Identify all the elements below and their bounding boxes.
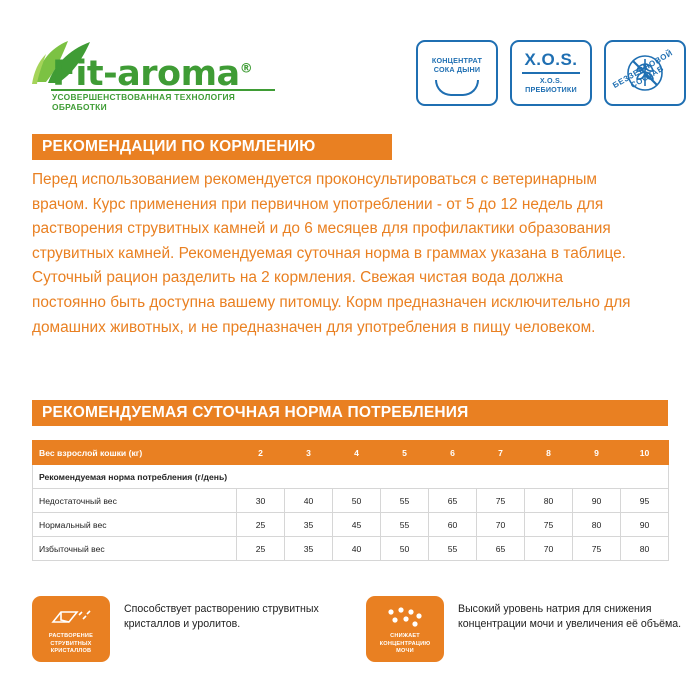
cell-normalweight-9: 80: [573, 513, 621, 537]
table-header-row: Вес взрослой кошки (кг) 2 3 4 5 6 7 8 9 …: [33, 441, 669, 465]
feeding-section-title: РЕКОМЕНДАЦИИ ПО КОРМЛЕНИЮ: [32, 134, 392, 160]
daily-norm-section-title: РЕКОМЕНДУЕМАЯ СУТОЧНАЯ НОРМА ПОТРЕБЛЕНИЯ: [32, 400, 668, 426]
row-label-underweight: Недостаточный вес: [33, 489, 237, 513]
cell-underweight-3: 40: [285, 489, 333, 513]
cell-overweight-4: 40: [333, 537, 381, 561]
logo-divider: [51, 89, 275, 91]
table-header-weight-6: 6: [429, 441, 477, 465]
feature-2-badge-line2: КОНЦЕНТРАЦИЮ: [366, 641, 444, 649]
cell-normalweight-6: 60: [429, 513, 477, 537]
cell-underweight-5: 55: [381, 489, 429, 513]
badge-xos-divider: [522, 72, 580, 74]
feature-1-badge-line3: КРИСТАЛЛОВ: [32, 648, 110, 656]
cell-normalweight-4: 45: [333, 513, 381, 537]
cell-normalweight-7: 70: [477, 513, 525, 537]
crystal-dissolving-icon: [47, 606, 95, 632]
table-header-weight-4: 4: [333, 441, 381, 465]
table-header-weight-7: 7: [477, 441, 525, 465]
table-header-weight-10: 10: [621, 441, 669, 465]
cell-normalweight-2: 25: [237, 513, 285, 537]
droplets-icon: [382, 606, 428, 630]
badge-xos-text: X.O.S. ПРЕБИОТИКИ: [512, 76, 590, 94]
cell-overweight-3: 35: [285, 537, 333, 561]
table-subheader-label: Рекомендуемая норма потребления (г/день): [33, 465, 669, 489]
feeding-section-text: Перед использованием рекомендуется проко…: [32, 168, 636, 340]
badge-xos-prebiotics: X.O.S. X.O.S. ПРЕБИОТИКИ: [510, 40, 592, 106]
cell-underweight-6: 65: [429, 489, 477, 513]
cell-normalweight-3: 35: [285, 513, 333, 537]
feature-2-badge-line1: СНИЖАЕТ: [366, 633, 444, 641]
daily-norm-table: Вес взрослой кошки (кг) 2 3 4 5 6 7 8 9 …: [32, 440, 669, 561]
table-row: Недостаточный вес 30 40 50 55 65 75 80 9…: [33, 489, 669, 513]
table-header-weight-label: Вес взрослой кошки (кг): [33, 441, 237, 465]
badge-xos-title: X.O.S.: [512, 50, 590, 70]
cell-underweight-9: 90: [573, 489, 621, 513]
feature-1-badge-line2: СТРУВИТНЫХ: [32, 641, 110, 649]
badge-grain-free: БЕЗЗЕРНОВОЙ СОСТАВ: [604, 40, 686, 106]
cell-normalweight-5: 55: [381, 513, 429, 537]
badge-xos-line1: X.O.S.: [512, 76, 590, 85]
badge-xos-line2: ПРЕБИОТИКИ: [512, 85, 590, 94]
feature-1-badge-line1: РАСТВОРЕНИЕ: [32, 633, 110, 641]
table-header-weight-2: 2: [237, 441, 285, 465]
melon-slice-icon: [435, 80, 479, 96]
cell-overweight-6: 55: [429, 537, 477, 561]
feature-2-badge-text: СНИЖАЕТ КОНЦЕНТРАЦИЮ МОЧИ: [366, 633, 444, 656]
badge-row: КОНЦЕНТРАТ СОКА ДЫНИ X.O.S. X.O.S. ПРЕБИ…: [416, 40, 686, 106]
table-header-weight-9: 9: [573, 441, 621, 465]
cell-overweight-5: 50: [381, 537, 429, 561]
cell-normalweight-8: 75: [525, 513, 573, 537]
brand-name: Fit-aroma®: [52, 54, 252, 94]
table-header-weight-5: 5: [381, 441, 429, 465]
table-row: Избыточный вес 25 35 40 50 55 65 70 75 8…: [33, 537, 669, 561]
feature-2-badge-line3: МОЧИ: [366, 648, 444, 656]
badge-melon-line2: СОКА ДЫНИ: [418, 65, 496, 74]
row-label-overweight: Избыточный вес: [33, 537, 237, 561]
page-header: Fit-aroma® УСОВЕРШЕНСТВОВАННАЯ ТЕХНОЛОГИ…: [0, 26, 700, 106]
registered-mark: ®: [240, 61, 253, 76]
badge-melon-text: КОНЦЕНТРАТ СОКА ДЫНИ: [418, 56, 496, 74]
brand-logo: Fit-aroma® УСОВЕРШЕНСТВОВАННАЯ ТЕХНОЛОГИ…: [22, 36, 292, 110]
cell-underweight-2: 30: [237, 489, 285, 513]
cell-underweight-8: 80: [525, 489, 573, 513]
feature-2-description: Высокий уровень натрия для снижения конц…: [458, 602, 700, 632]
row-label-normalweight: Нормальный вес: [33, 513, 237, 537]
cell-underweight-4: 50: [333, 489, 381, 513]
feature-1-badge-text: РАСТВОРЕНИЕ СТРУВИТНЫХ КРИСТАЛЛОВ: [32, 633, 110, 656]
cell-overweight-8: 70: [525, 537, 573, 561]
cell-overweight-7: 65: [477, 537, 525, 561]
brand-tagline: УСОВЕРШЕНСТВОВАННАЯ ТЕХНОЛОГИЯ ОБРАБОТКИ: [52, 92, 292, 112]
badge-melon-juice-concentrate: КОНЦЕНТРАТ СОКА ДЫНИ: [416, 40, 498, 106]
table-header-weight-8: 8: [525, 441, 573, 465]
cell-overweight-10: 80: [621, 537, 669, 561]
feature-1-description: Способствует растворению струвитных крис…: [124, 602, 374, 632]
feature-1-badge: РАСТВОРЕНИЕ СТРУВИТНЫХ КРИСТАЛЛОВ: [32, 596, 110, 662]
cell-overweight-9: 75: [573, 537, 621, 561]
feature-2-badge: СНИЖАЕТ КОНЦЕНТРАЦИЮ МОЧИ: [366, 596, 444, 662]
table-row: Нормальный вес 25 35 45 55 60 70 75 80 9…: [33, 513, 669, 537]
cell-underweight-10: 95: [621, 489, 669, 513]
table-subheader-row: Рекомендуемая норма потребления (г/день): [33, 465, 669, 489]
cell-overweight-2: 25: [237, 537, 285, 561]
table-header-weight-3: 3: [285, 441, 333, 465]
badge-melon-line1: КОНЦЕНТРАТ: [418, 56, 496, 65]
brand-name-text: Fit-aroma: [52, 54, 240, 94]
cell-underweight-7: 75: [477, 489, 525, 513]
cell-normalweight-10: 90: [621, 513, 669, 537]
